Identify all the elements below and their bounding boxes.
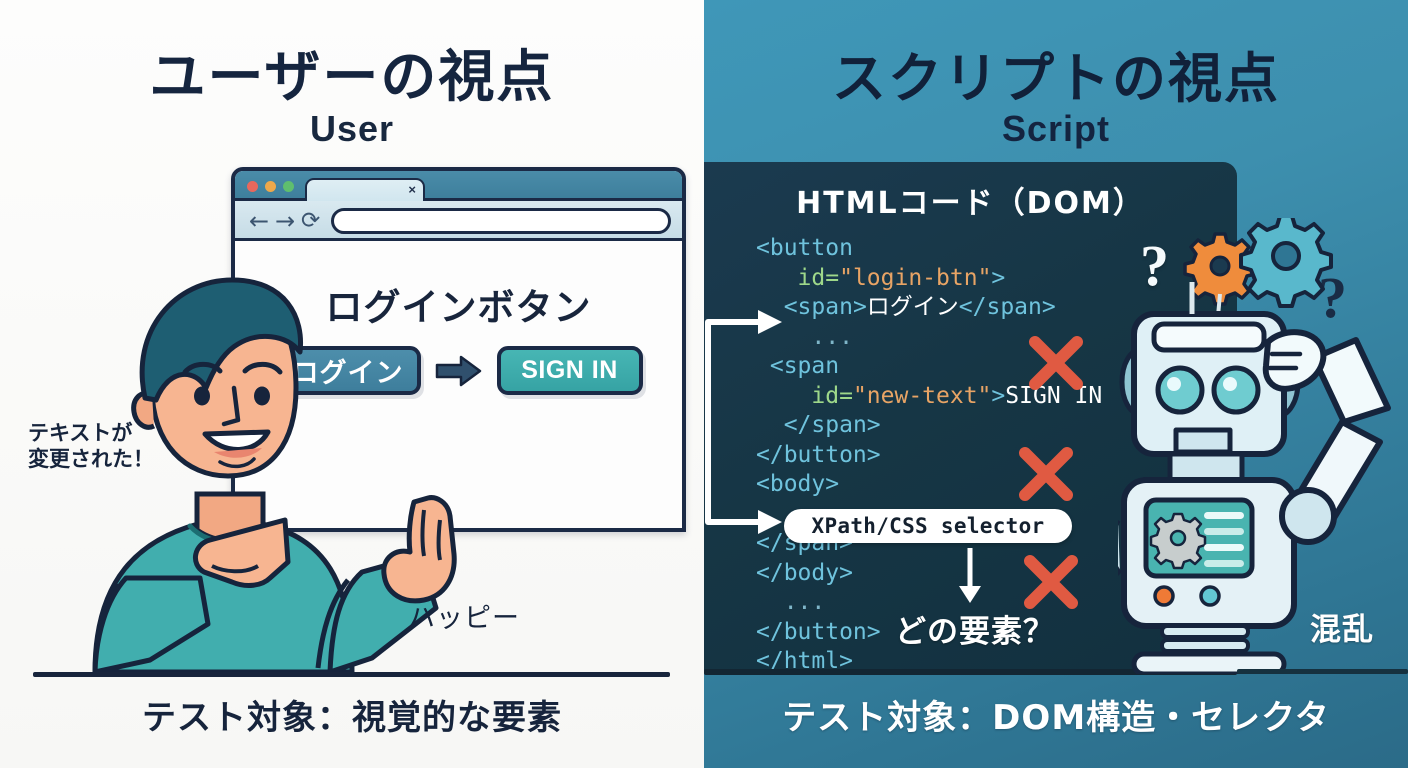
red-x-icon [1025, 332, 1087, 399]
confusion-label: 混乱 [1310, 604, 1374, 649]
address-bar-input[interactable] [331, 208, 671, 234]
caption-user-panel: テスト対象：視覚的な要素 [0, 690, 704, 739]
code-line: id="login-btn"> [756, 264, 1102, 294]
script-panel-title-en: Script [704, 108, 1408, 150]
infographic-stage: ユーザーの視点 User スクリプトの視点 Script × ← → ⟳ ログイ… [0, 0, 1408, 768]
code-panel-title: HTMLコード（DOM） [704, 178, 1237, 222]
window-close-dot-icon[interactable] [247, 181, 258, 192]
login-button-after[interactable]: SIGN IN [497, 346, 643, 395]
window-minimize-dot-icon[interactable] [265, 181, 276, 192]
user-panel-title-jp: ユーザーの視点 [0, 32, 704, 113]
tab-close-icon[interactable]: × [408, 182, 416, 197]
red-x-icon [1020, 551, 1082, 618]
ground-line-right [1237, 669, 1408, 674]
ground-line-left [33, 672, 670, 677]
caption-script-panel: テスト対象：DOM構造・セレクタ [704, 690, 1408, 739]
speech-bubble-text: テキストが 変更された！ [28, 420, 218, 473]
forward-arrow-icon[interactable]: → [275, 208, 295, 234]
window-maximize-dot-icon[interactable] [283, 181, 294, 192]
script-panel-title-jp: スクリプトの視点 [704, 34, 1408, 113]
red-x-icon [1015, 443, 1077, 510]
browser-toolbar: ← → ⟳ [235, 201, 682, 241]
down-arrow-icon [957, 548, 983, 604]
browser-titlebar: × [235, 171, 682, 201]
code-line: <button [756, 234, 1102, 264]
selector-connector-bracket [700, 300, 870, 535]
mood-label: ハッピー [408, 596, 520, 635]
back-arrow-icon[interactable]: ← [249, 208, 269, 234]
reload-icon[interactable]: ⟳ [301, 208, 320, 234]
user-panel-title-en: User [0, 108, 704, 150]
xpath-css-selector-pill: XPath/CSS selector [784, 509, 1072, 543]
